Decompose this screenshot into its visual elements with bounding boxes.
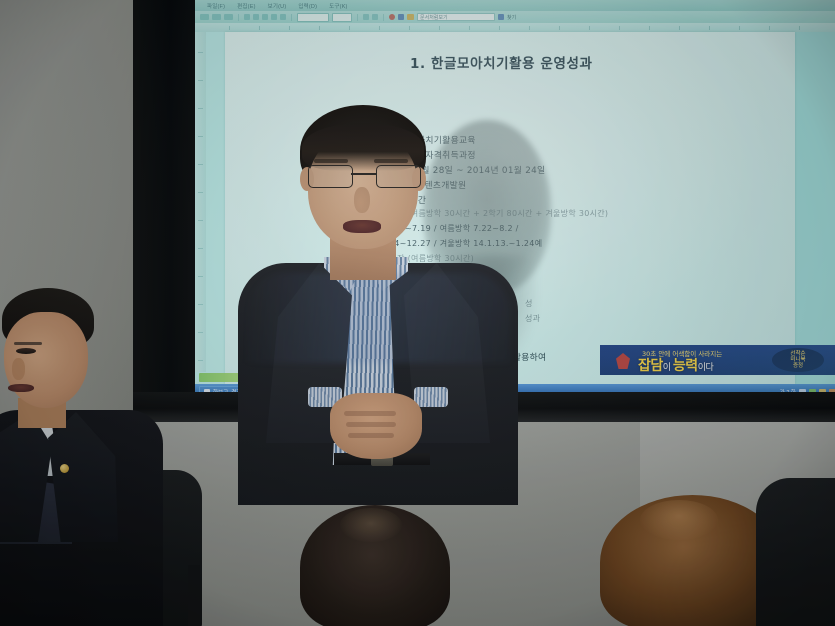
glasses-icon (306, 165, 421, 187)
presenter-jacket-highlight (246, 273, 510, 363)
font-family-select[interactable] (297, 13, 329, 22)
search-input[interactable]: 문서처럼보기 (417, 13, 495, 21)
menu-item-tools[interactable]: 도구(K) (329, 2, 347, 10)
presenter-clasped-hands (330, 393, 422, 459)
copy-icon[interactable] (271, 14, 277, 20)
audience-head-dark-highlight (340, 508, 402, 542)
presenter-person (238, 105, 518, 505)
ad-badge: 선착순 미니북 증정 (772, 348, 824, 372)
menu-item-input[interactable]: 입력(D) (298, 2, 317, 10)
audience-shoulder-right (756, 478, 835, 626)
toolbar-separator-2 (291, 14, 292, 21)
new-document-icon[interactable] (200, 14, 209, 20)
vertical-ruler (195, 32, 206, 372)
attendee-brow (14, 342, 42, 345)
ad-headline-part2: 이 (663, 363, 673, 373)
open-file-icon[interactable] (212, 14, 221, 20)
presenter-mouth (343, 220, 381, 233)
chair-post (188, 565, 200, 626)
presenter-brow-right (374, 159, 408, 163)
cut-icon[interactable] (262, 14, 268, 20)
attendee-nose (12, 358, 25, 380)
edit-pen-icon[interactable] (398, 14, 404, 20)
zoom-in-icon[interactable] (372, 14, 378, 20)
find-button-label[interactable]: 찾기 (507, 14, 516, 21)
hwp-toolbar[interactable]: 문서처럼보기 찾기 (195, 11, 835, 23)
toolbar-separator (238, 14, 239, 21)
presenter-brow-left (314, 159, 348, 163)
folder-icon[interactable] (407, 14, 414, 20)
ad-banner[interactable]: 30초 안에 어색함이 사라지는 잡담이 능력이다 선착순 미니북 증정 (600, 345, 835, 375)
find-icon[interactable] (498, 14, 504, 20)
print-icon[interactable] (244, 14, 250, 20)
save-icon[interactable] (224, 14, 233, 20)
horizontal-ruler (195, 23, 835, 32)
menu-item-view[interactable]: 보기(U) (268, 2, 287, 10)
presenter-nose (354, 187, 370, 213)
font-size-select[interactable] (332, 13, 352, 22)
search-input-value: 문서처럼보기 (420, 14, 448, 21)
seated-attendee-person (0, 288, 158, 626)
paste-icon[interactable] (280, 14, 286, 20)
zoom-out-icon[interactable] (363, 14, 369, 20)
hwp-menubar[interactable]: 파일(F) 편집(E) 보기(U) 입력(D) 도구(K) (195, 0, 835, 11)
presenter-cuff-right (414, 387, 448, 407)
ad-mark-icon (616, 353, 630, 369)
toolbar-separator-4 (383, 14, 384, 21)
photo-scene: 파일(F) 편집(E) 보기(U) 입력(D) 도구(K) (0, 0, 835, 626)
record-icon[interactable] (389, 14, 395, 20)
ad-headline-part4: 이다 (698, 363, 714, 373)
preview-icon[interactable] (253, 14, 259, 20)
presenter-hair-front (302, 123, 424, 171)
lapel-pin-icon (60, 464, 69, 473)
page-margin-area (795, 32, 835, 384)
audience-head-auburn-highlight (640, 500, 718, 540)
menu-item-edit[interactable]: 편집(E) (237, 2, 255, 10)
ad-headline-part1: 잡담 (638, 358, 663, 374)
toolbar-separator-3 (357, 14, 358, 21)
ad-banner-headline: 잡담이 능력이다 (638, 355, 713, 375)
ad-headline-part3: 능력 (673, 358, 698, 374)
menu-item-file[interactable]: 파일(F) (207, 2, 225, 10)
document-title: 1. 한글모아치기활용 운영성과 (410, 52, 593, 72)
attendee-mouth (8, 384, 34, 392)
ad-badge-line3: 증정 (793, 363, 803, 369)
attendee-eye (16, 348, 36, 354)
